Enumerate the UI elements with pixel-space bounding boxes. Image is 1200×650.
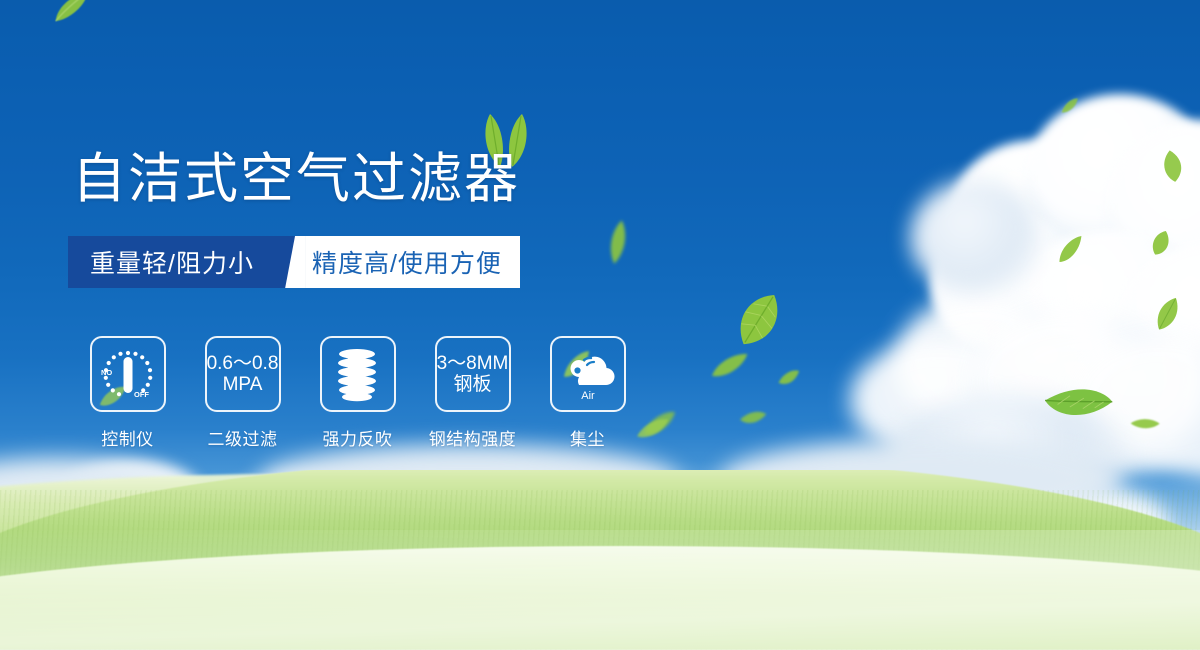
page-title: 自洁式空气过滤器 (72, 148, 520, 210)
feature-label: 强力反吹 (323, 425, 393, 450)
feature-item-steel[interactable]: 3〜8MM 钢板 钢结构强度 (415, 336, 530, 450)
badge-lightweight: 重量轻/阻力小 (68, 236, 280, 288)
steel-line-1: 3〜8MM (437, 353, 509, 374)
feature-item-control[interactable]: NO OFF 控制仪 (70, 336, 185, 450)
feature-item-dust[interactable]: Air 集尘 (530, 336, 645, 450)
air-label: Air (581, 390, 595, 402)
feature-label: 二级过滤 (208, 425, 278, 450)
steel-line-2: 钢板 (437, 374, 509, 395)
pressure-line-1: 0.6〜0.8 (207, 353, 279, 374)
feature-item-pressure[interactable]: 0.6〜0.8 MPA 二级过滤 (185, 336, 300, 450)
svg-text:NO: NO (101, 368, 112, 377)
air-cloud-icon: Air (550, 336, 626, 412)
feature-label: 钢结构强度 (429, 425, 517, 450)
filter-cartridge-icon (320, 336, 396, 412)
svg-text:OFF: OFF (134, 390, 149, 399)
badge-precision: 精度高/使用方便 (306, 236, 520, 288)
control-dial-icon: NO OFF (90, 336, 166, 412)
banner-content: 自洁式空气过滤器 重量轻/阻力小 精度高/使用方便 (0, 0, 1200, 650)
feature-label: 集尘 (570, 425, 605, 450)
badge-separator (280, 236, 306, 288)
pressure-text-icon: 0.6〜0.8 MPA (205, 336, 281, 412)
feature-label: 控制仪 (101, 425, 154, 450)
hero-banner: 自洁式空气过滤器 重量轻/阻力小 精度高/使用方便 (0, 0, 1200, 650)
steel-plate-text-icon: 3〜8MM 钢板 (435, 336, 511, 412)
pressure-line-2: MPA (207, 374, 279, 395)
subtitle-badges: 重量轻/阻力小 精度高/使用方便 (68, 236, 520, 288)
feature-list: NO OFF 控制仪 0.6〜0.8 MPA 二级过滤 (70, 336, 645, 450)
feature-item-blowback[interactable]: 强力反吹 (300, 336, 415, 450)
